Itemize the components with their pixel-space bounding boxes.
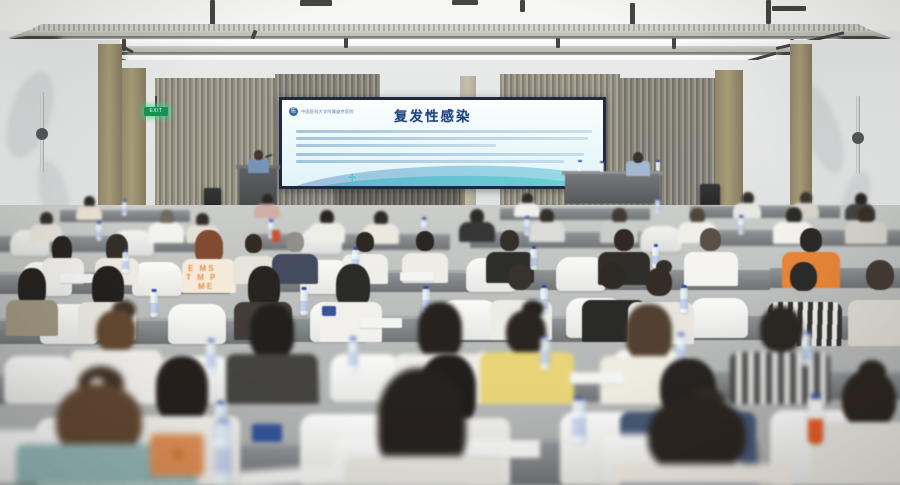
water-bottle xyxy=(802,334,812,366)
slide-logo: 医 中国医科大学附属盛京医院 xyxy=(289,107,354,116)
slide-body-line xyxy=(296,153,584,156)
water-bottle xyxy=(122,252,129,273)
attendee-head xyxy=(500,230,519,251)
attendee-head xyxy=(245,234,262,253)
attendee-torso xyxy=(529,222,565,242)
slide-body-line xyxy=(296,144,496,147)
ceiling-beam-outer xyxy=(8,36,892,39)
moderator-torso xyxy=(626,161,650,176)
attendee-head xyxy=(96,310,136,352)
smartphone xyxy=(322,306,336,316)
institution-logo-icon: 医 xyxy=(289,107,298,116)
moderator-head xyxy=(633,152,643,163)
ceiling-coffer-rim-mid xyxy=(58,46,842,53)
exit-sign-stem xyxy=(155,96,157,107)
water-bottle xyxy=(96,224,102,241)
exit-sign: EXIT xyxy=(144,107,168,116)
ceiling-hanger xyxy=(556,38,560,48)
attendee-head xyxy=(416,231,434,251)
table-water-bottle xyxy=(578,160,582,171)
ceiling-beam-stub xyxy=(766,0,771,24)
attendee-head xyxy=(866,260,894,290)
slide-body-line xyxy=(296,160,564,163)
exit-sign-label: EXIT xyxy=(144,107,168,116)
ceiling-light-strip xyxy=(62,40,838,46)
slide-cross-icon: ✛ xyxy=(348,173,356,184)
attendee-head xyxy=(600,262,625,289)
ceiling-beam-stub xyxy=(300,0,332,6)
attendee-head xyxy=(700,228,721,251)
ceiling-beam-mid xyxy=(58,52,842,55)
water-bottle xyxy=(150,292,158,317)
attendee-head xyxy=(790,262,817,291)
institution-name: 中国医科大学附属盛京医院 xyxy=(301,109,354,115)
slide-body-line xyxy=(296,137,588,140)
attendee-head xyxy=(614,229,634,251)
attendee-torso xyxy=(344,456,504,485)
attendee-head xyxy=(760,306,802,352)
ceiling-beam-stub xyxy=(520,0,525,12)
slide-title: 复发性感染 xyxy=(394,105,472,125)
attendee-head xyxy=(646,268,672,296)
water-bottle xyxy=(680,288,688,313)
water-bottle xyxy=(738,218,744,235)
ceiling-hanger xyxy=(344,38,348,48)
conference-hall-photo: EXIT 医 中国医科大学附属盛京医院 复发性感染 ✛ xyxy=(0,0,900,485)
table-water-bottle xyxy=(600,161,604,172)
attendee-head xyxy=(648,396,746,474)
attendee-torso xyxy=(459,222,495,242)
orange-handbag xyxy=(150,434,204,476)
water-bottle xyxy=(530,249,537,270)
ceiling-beam-stub xyxy=(452,0,478,5)
attendee-head xyxy=(356,232,374,252)
projection-screen: 医 中国医科大学附属盛京医院 复发性感染 ✛ xyxy=(279,97,606,189)
attendee-head xyxy=(800,228,822,252)
attendee-torso xyxy=(612,464,792,485)
table-water-bottle xyxy=(656,160,660,171)
water-bottle xyxy=(655,200,660,214)
attendee-hair xyxy=(250,304,294,358)
ceiling-beam-stub xyxy=(630,3,635,25)
water-bottle xyxy=(540,338,550,370)
presenter-torso xyxy=(248,159,269,173)
attendee-hair xyxy=(626,304,672,360)
water-bottle xyxy=(300,290,308,315)
projected-slide: 医 中国医科大学附属盛京医院 复发性感染 ✛ xyxy=(282,100,603,186)
ceiling-hanger xyxy=(672,38,676,49)
attendee-head xyxy=(286,232,304,252)
slide-body-line xyxy=(296,130,592,133)
water-bottle xyxy=(214,422,232,484)
wall-sconce-right-base xyxy=(852,132,864,144)
ceiling-beam-stub xyxy=(772,6,806,11)
wall-sconce-left-base xyxy=(36,128,48,140)
attendee-hair xyxy=(418,302,462,358)
handout-paper xyxy=(236,464,347,485)
audience-row-7 xyxy=(0,372,900,485)
water-bottle xyxy=(524,219,530,236)
presenter-head xyxy=(254,150,263,160)
attendee-head xyxy=(508,264,532,290)
ceiling-grille-outer xyxy=(28,24,872,31)
ceiling-beam-stub xyxy=(210,0,215,28)
